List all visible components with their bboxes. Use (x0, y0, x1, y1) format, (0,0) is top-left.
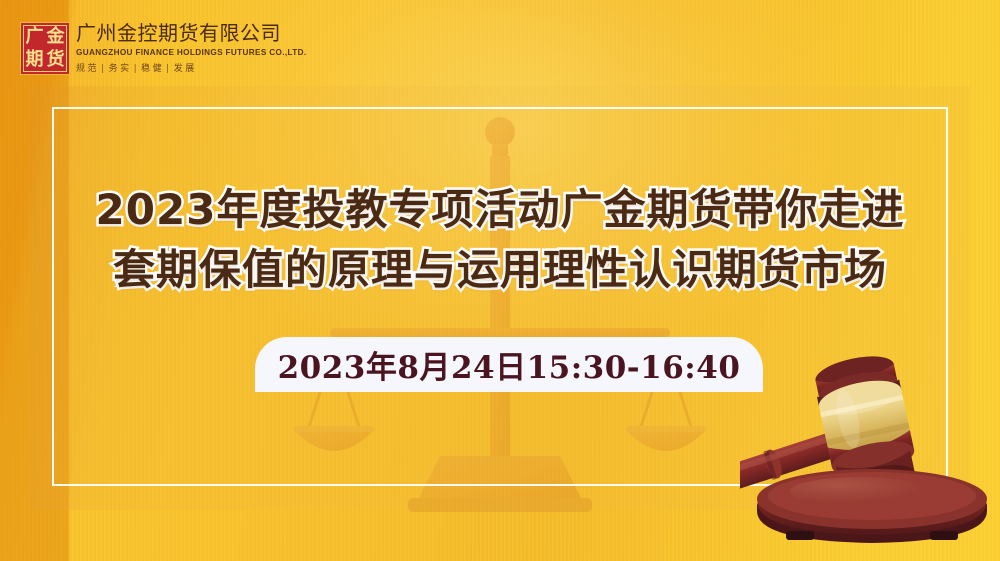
slogan-item-4: 发展 (174, 64, 197, 74)
company-name-cn: 广州金控期货有限公司 (76, 22, 307, 45)
company-slogan: 规范|务实|稳健|发展 (76, 61, 307, 74)
logo-char-3: 期 (26, 51, 44, 69)
slogan-separator-2: | (134, 64, 140, 74)
slogan-item-3: 稳健 (141, 64, 164, 74)
event-datetime-badge: 2023年8月24日15:30-16:40 (255, 337, 763, 392)
event-title: 2023年度投教专项活动广金期货带你走进 套期保值的原理与运用理性认识期货市场 (0, 180, 1000, 299)
slogan-separator-3: | (166, 64, 172, 74)
logo-char-2: 金 (47, 28, 65, 46)
slogan-separator-1: | (101, 64, 107, 74)
title-line-2: 套期保值的原理与运用理性认识期货市场 (0, 240, 1000, 300)
logo-char-4: 货 (47, 51, 65, 69)
company-name-en: GUANGZHOU FINANCE HOLDINGS FUTURES CO.,L… (76, 48, 307, 57)
event-datetime-text: 2023年8月24日15:30-16:40 (278, 342, 741, 387)
title-line-1: 2023年度投教专项活动广金期货带你走进 (0, 180, 1000, 240)
logo-char-1: 广 (26, 28, 44, 46)
promotional-banner: 广 金 期 货 广州金控期货有限公司 GUANGZHOU FINANCE HOL… (0, 0, 1000, 561)
slogan-item-2: 务实 (109, 64, 132, 74)
slogan-item-1: 规范 (76, 64, 99, 74)
company-identity: 广州金控期货有限公司 GUANGZHOU FINANCE HOLDINGS FU… (76, 22, 307, 74)
company-logo-mark: 广 金 期 货 (20, 22, 70, 75)
header-bar: 广 金 期 货 广州金控期货有限公司 GUANGZHOU FINANCE HOL… (0, 0, 1000, 104)
